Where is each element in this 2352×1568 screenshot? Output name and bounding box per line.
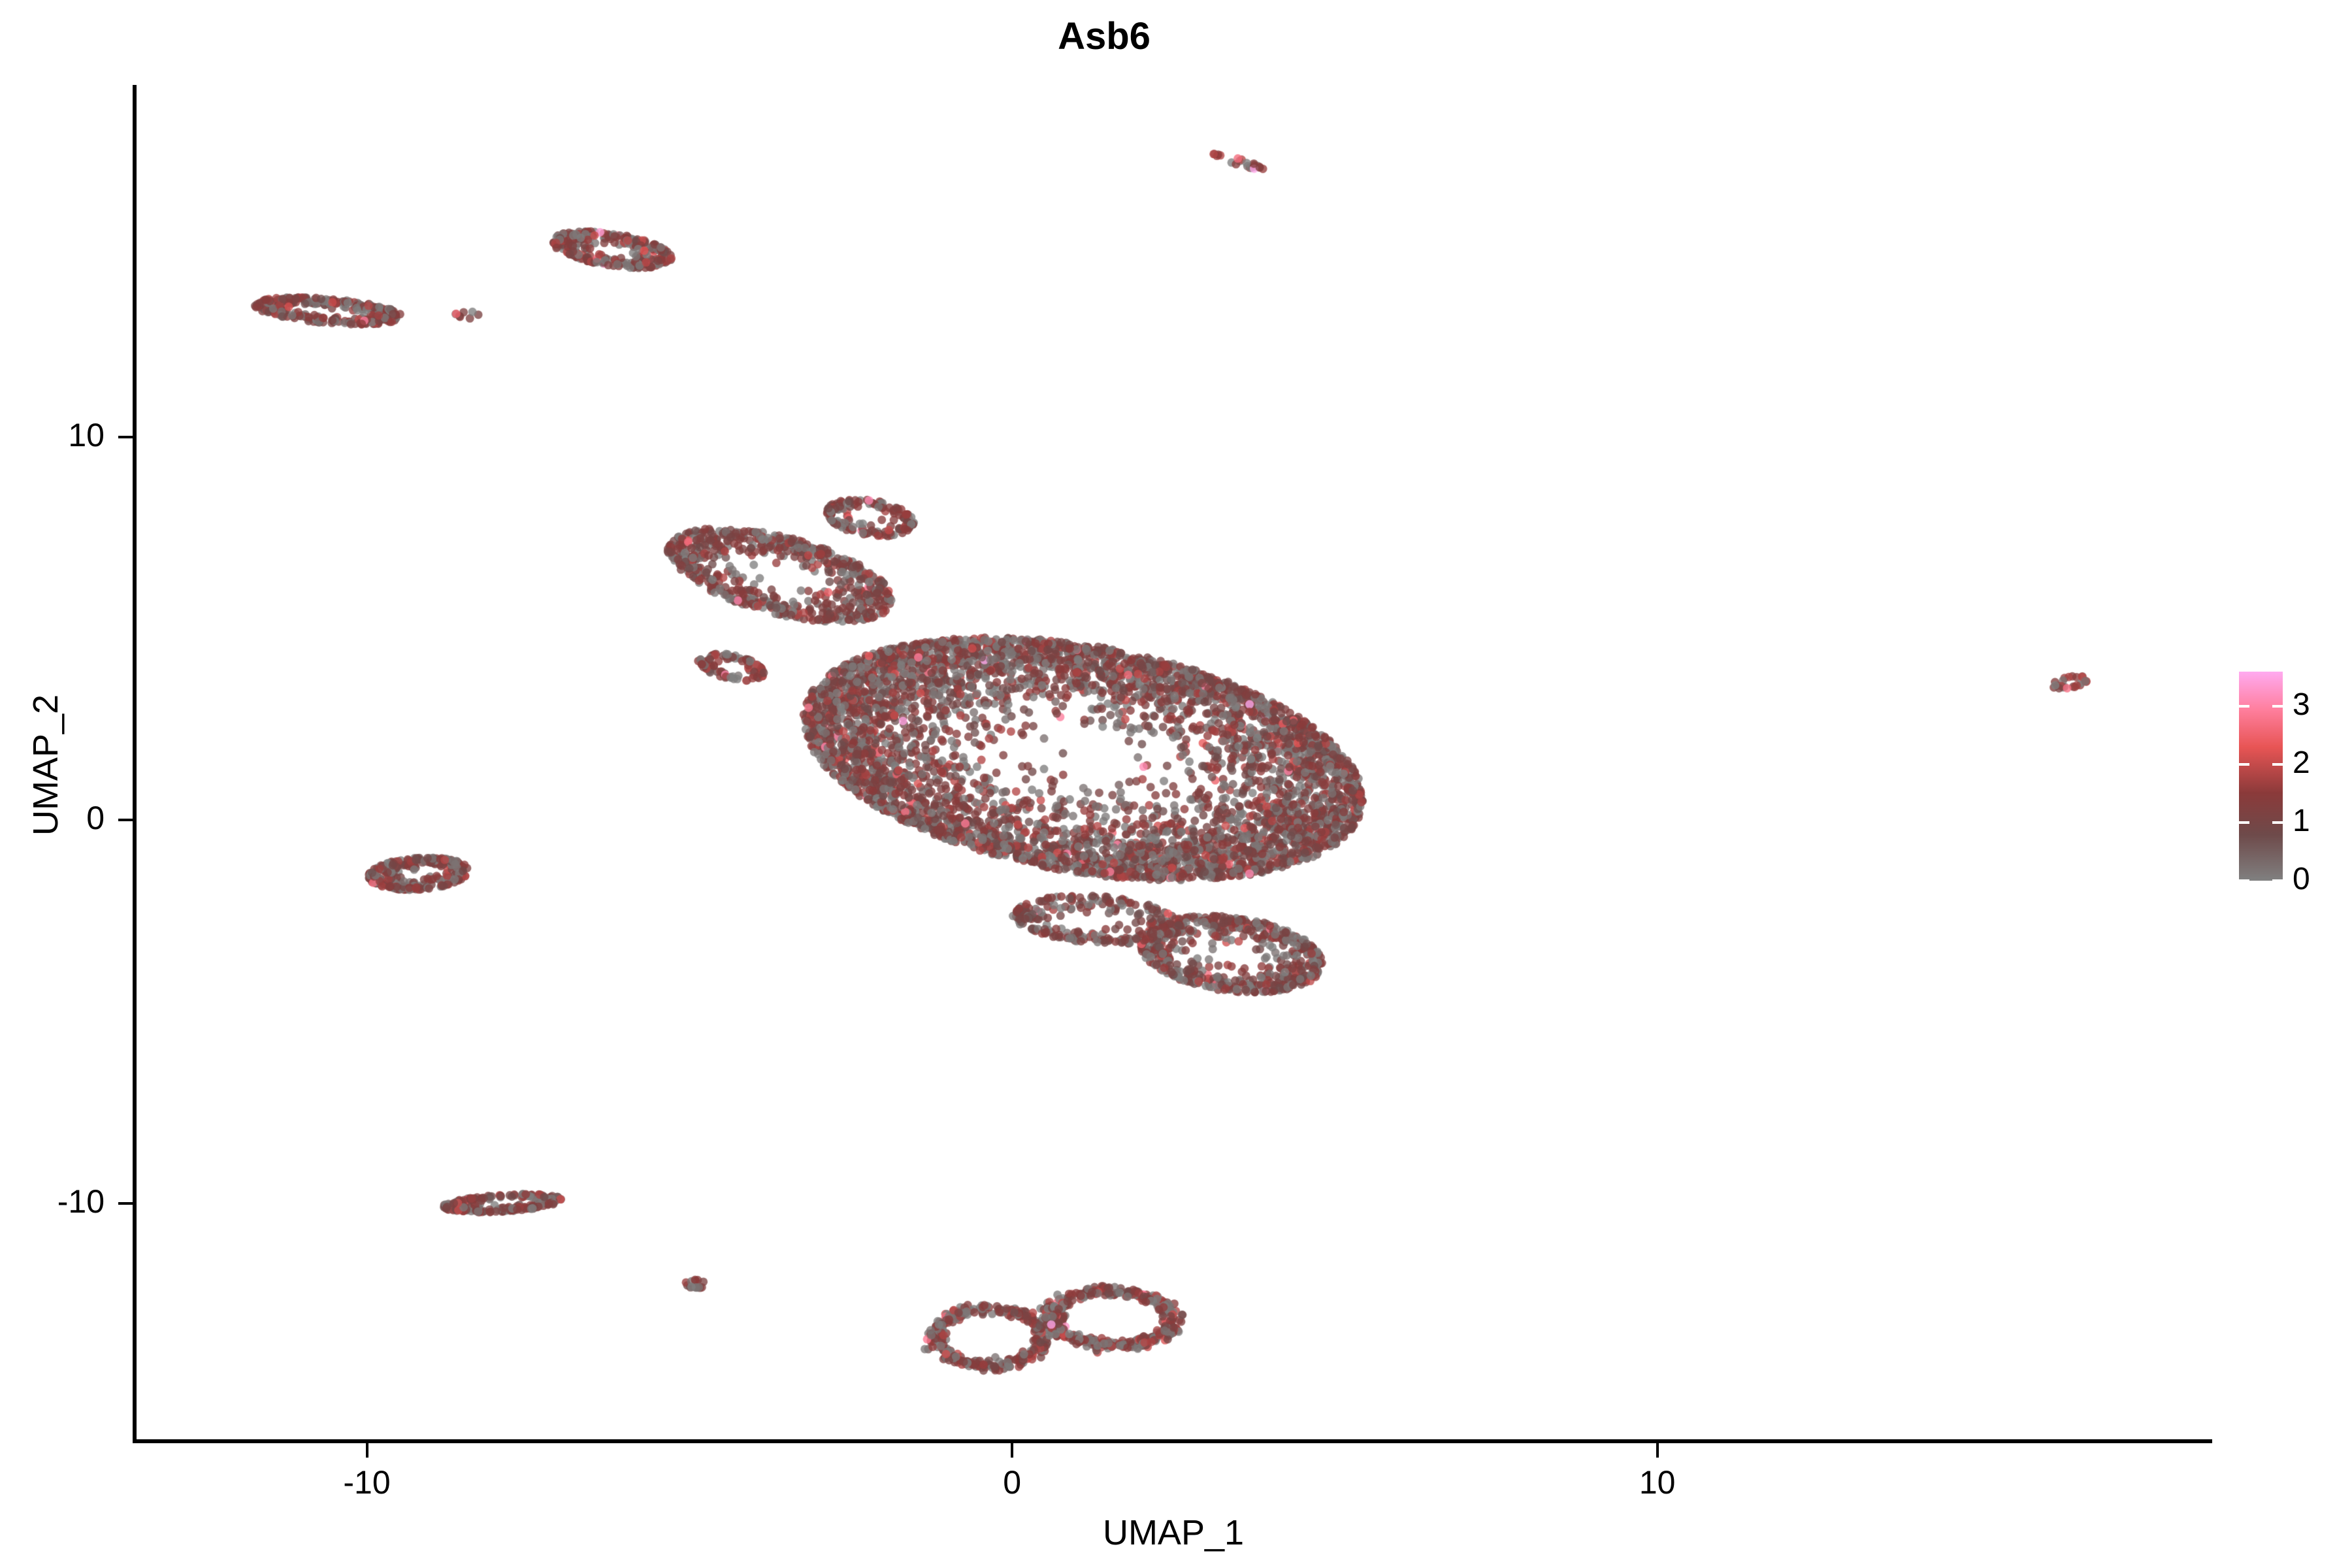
legend-tick-mark — [2239, 763, 2249, 766]
page-title: Asb6 — [0, 14, 2208, 58]
x-tick-label: 10 — [1573, 1463, 1742, 1501]
legend-tick-mark — [2239, 879, 2249, 882]
x-axis-line — [135, 1439, 2212, 1443]
legend-tick-mark — [2272, 879, 2283, 882]
x-tick-label: -10 — [282, 1463, 452, 1501]
y-axis-title: UMAP_2 — [25, 373, 66, 1157]
legend-tick-mark — [2272, 705, 2283, 708]
y-tick-label: -10 — [0, 1183, 105, 1220]
legend-tick-label: 3 — [2293, 689, 2338, 721]
y-axis-line — [133, 85, 137, 1443]
x-tick-mark — [366, 1443, 368, 1458]
legend-colorbar — [2239, 672, 2283, 881]
scatter-points-layer — [135, 85, 2212, 1441]
legend-tick-mark — [2239, 821, 2249, 824]
x-tick-mark — [1011, 1443, 1013, 1458]
legend-tick-mark — [2272, 763, 2283, 766]
plot-panel — [135, 85, 2212, 1441]
x-tick-label: 0 — [927, 1463, 1097, 1501]
legend-tick-label: 2 — [2293, 747, 2338, 779]
y-tick-mark — [118, 1202, 133, 1205]
legend-tick-mark — [2272, 821, 2283, 824]
x-tick-mark — [1656, 1443, 1659, 1458]
legend-tick-mark — [2239, 705, 2249, 708]
legend-tick-label: 0 — [2293, 864, 2338, 895]
y-tick-mark — [118, 436, 133, 438]
x-axis-title: UMAP_1 — [135, 1512, 2212, 1553]
umap-feature-plot: Asb6 -10010 100-10 UMAP_1 UMAP_2 3210 — [0, 0, 2352, 1568]
legend-tick-label: 1 — [2293, 806, 2338, 837]
y-tick-mark — [118, 819, 133, 821]
color-legend: 3210 — [2239, 672, 2337, 881]
